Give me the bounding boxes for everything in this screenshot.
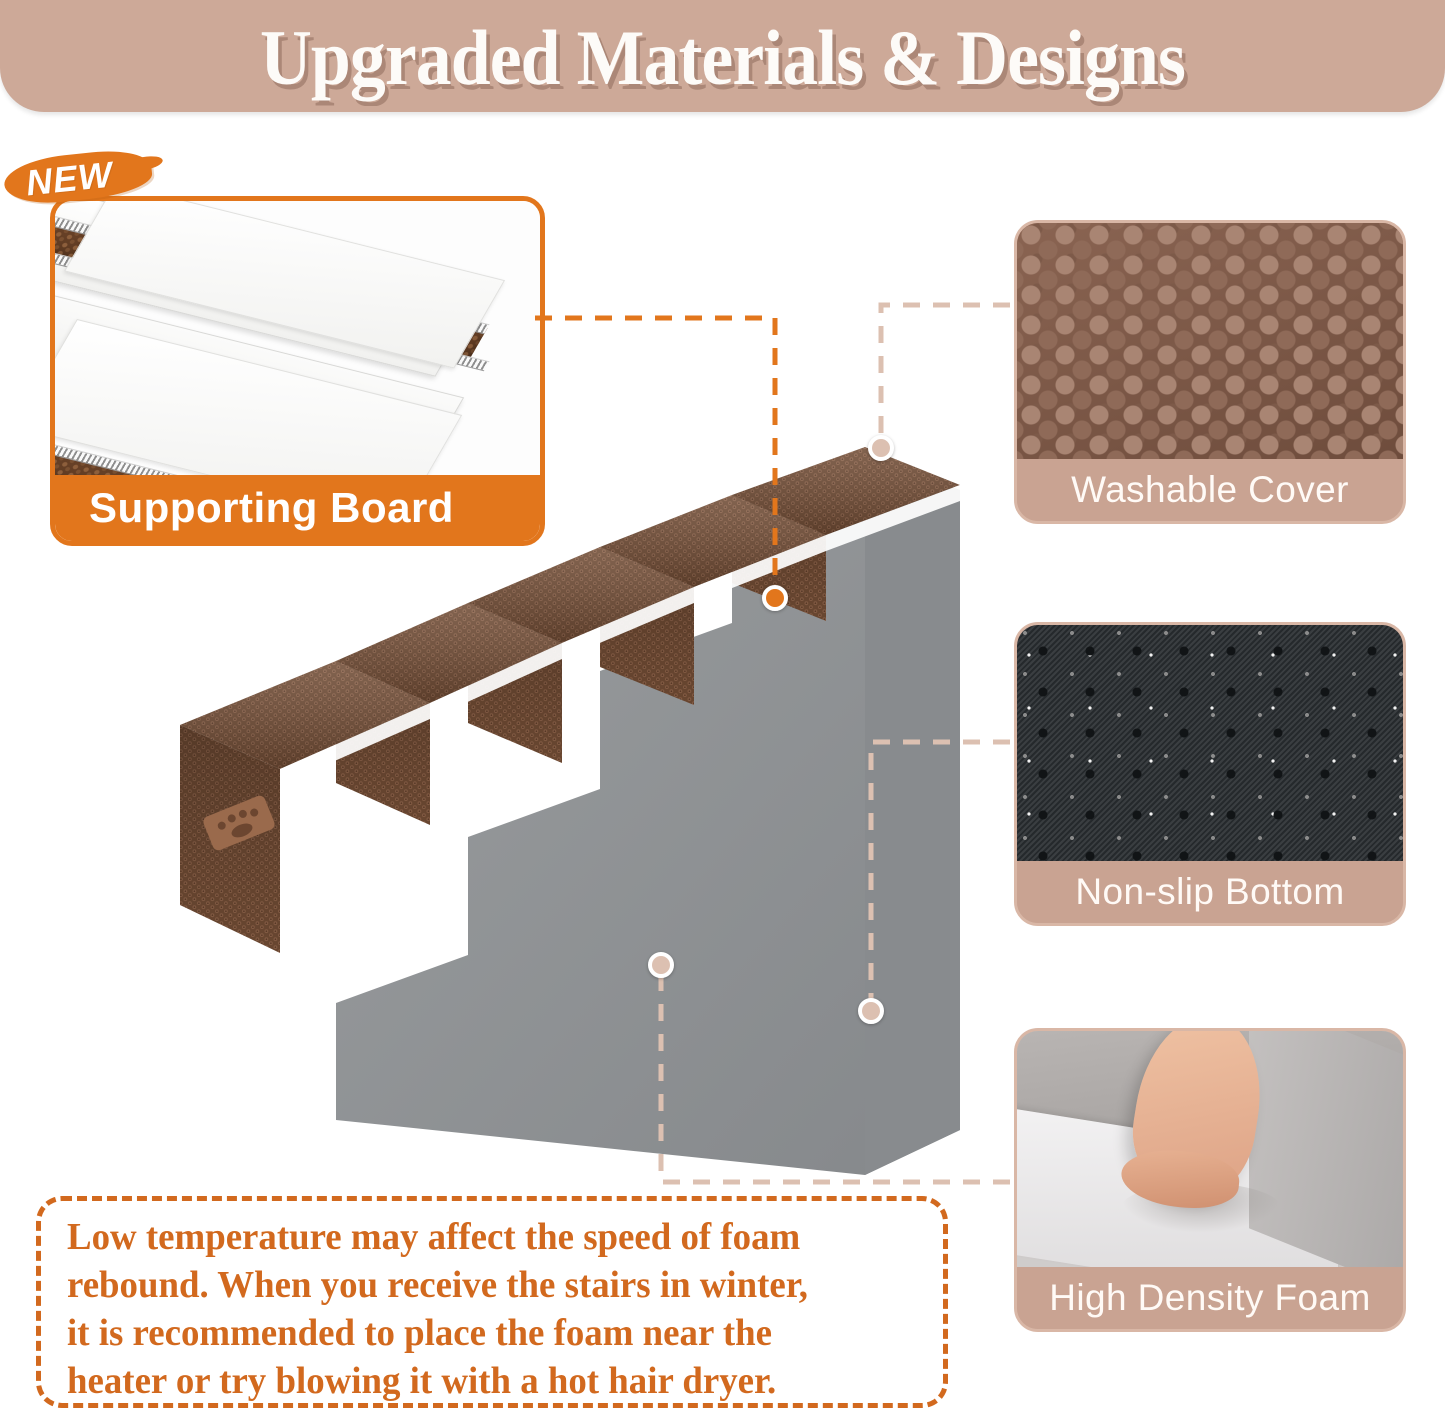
page-title: Upgraded Materials & Designs <box>58 12 1387 104</box>
note-line-1: Low temperature may affect the speed of … <box>67 1213 892 1261</box>
non-slip-bottom-image <box>1017 625 1403 861</box>
foam-connector-dot <box>648 952 674 978</box>
washable-cover-image <box>1017 223 1403 459</box>
washable-cover-caption-bar: Washable Cover <box>1017 459 1403 521</box>
non-slip-bottom-caption: Non-slip Bottom <box>1075 871 1344 913</box>
feature-card-washable-cover: Washable Cover <box>1014 220 1406 524</box>
cover-connector-dot <box>868 435 894 461</box>
pet-stairs-illustration <box>120 385 980 1195</box>
note-line-4: heater or try blowing it with a hot hair… <box>67 1357 892 1405</box>
care-note-box: Low temperature may affect the speed of … <box>36 1196 948 1408</box>
nonslip-connector-dot <box>858 998 884 1024</box>
feature-card-non-slip-bottom: Non-slip Bottom <box>1014 622 1406 926</box>
feature-card-high-density-foam: High Density Foam <box>1014 1028 1406 1332</box>
infographic-canvas: Upgraded Materials & Designs Supporting … <box>0 0 1445 1428</box>
note-line-2: rebound. When you receive the stairs in … <box>67 1261 892 1309</box>
non-slip-bottom-caption-bar: Non-slip Bottom <box>1017 861 1403 923</box>
note-line-3: it is recommended to place the foam near… <box>67 1309 892 1357</box>
high-density-foam-caption: High Density Foam <box>1049 1277 1370 1319</box>
foam-front-face <box>1249 1031 1403 1267</box>
new-badge: NEW <box>4 148 154 210</box>
washable-cover-caption: Washable Cover <box>1071 469 1349 511</box>
high-density-foam-image <box>1017 1031 1403 1267</box>
high-density-foam-caption-bar: High Density Foam <box>1017 1267 1403 1329</box>
board-connector-dot <box>762 585 788 611</box>
